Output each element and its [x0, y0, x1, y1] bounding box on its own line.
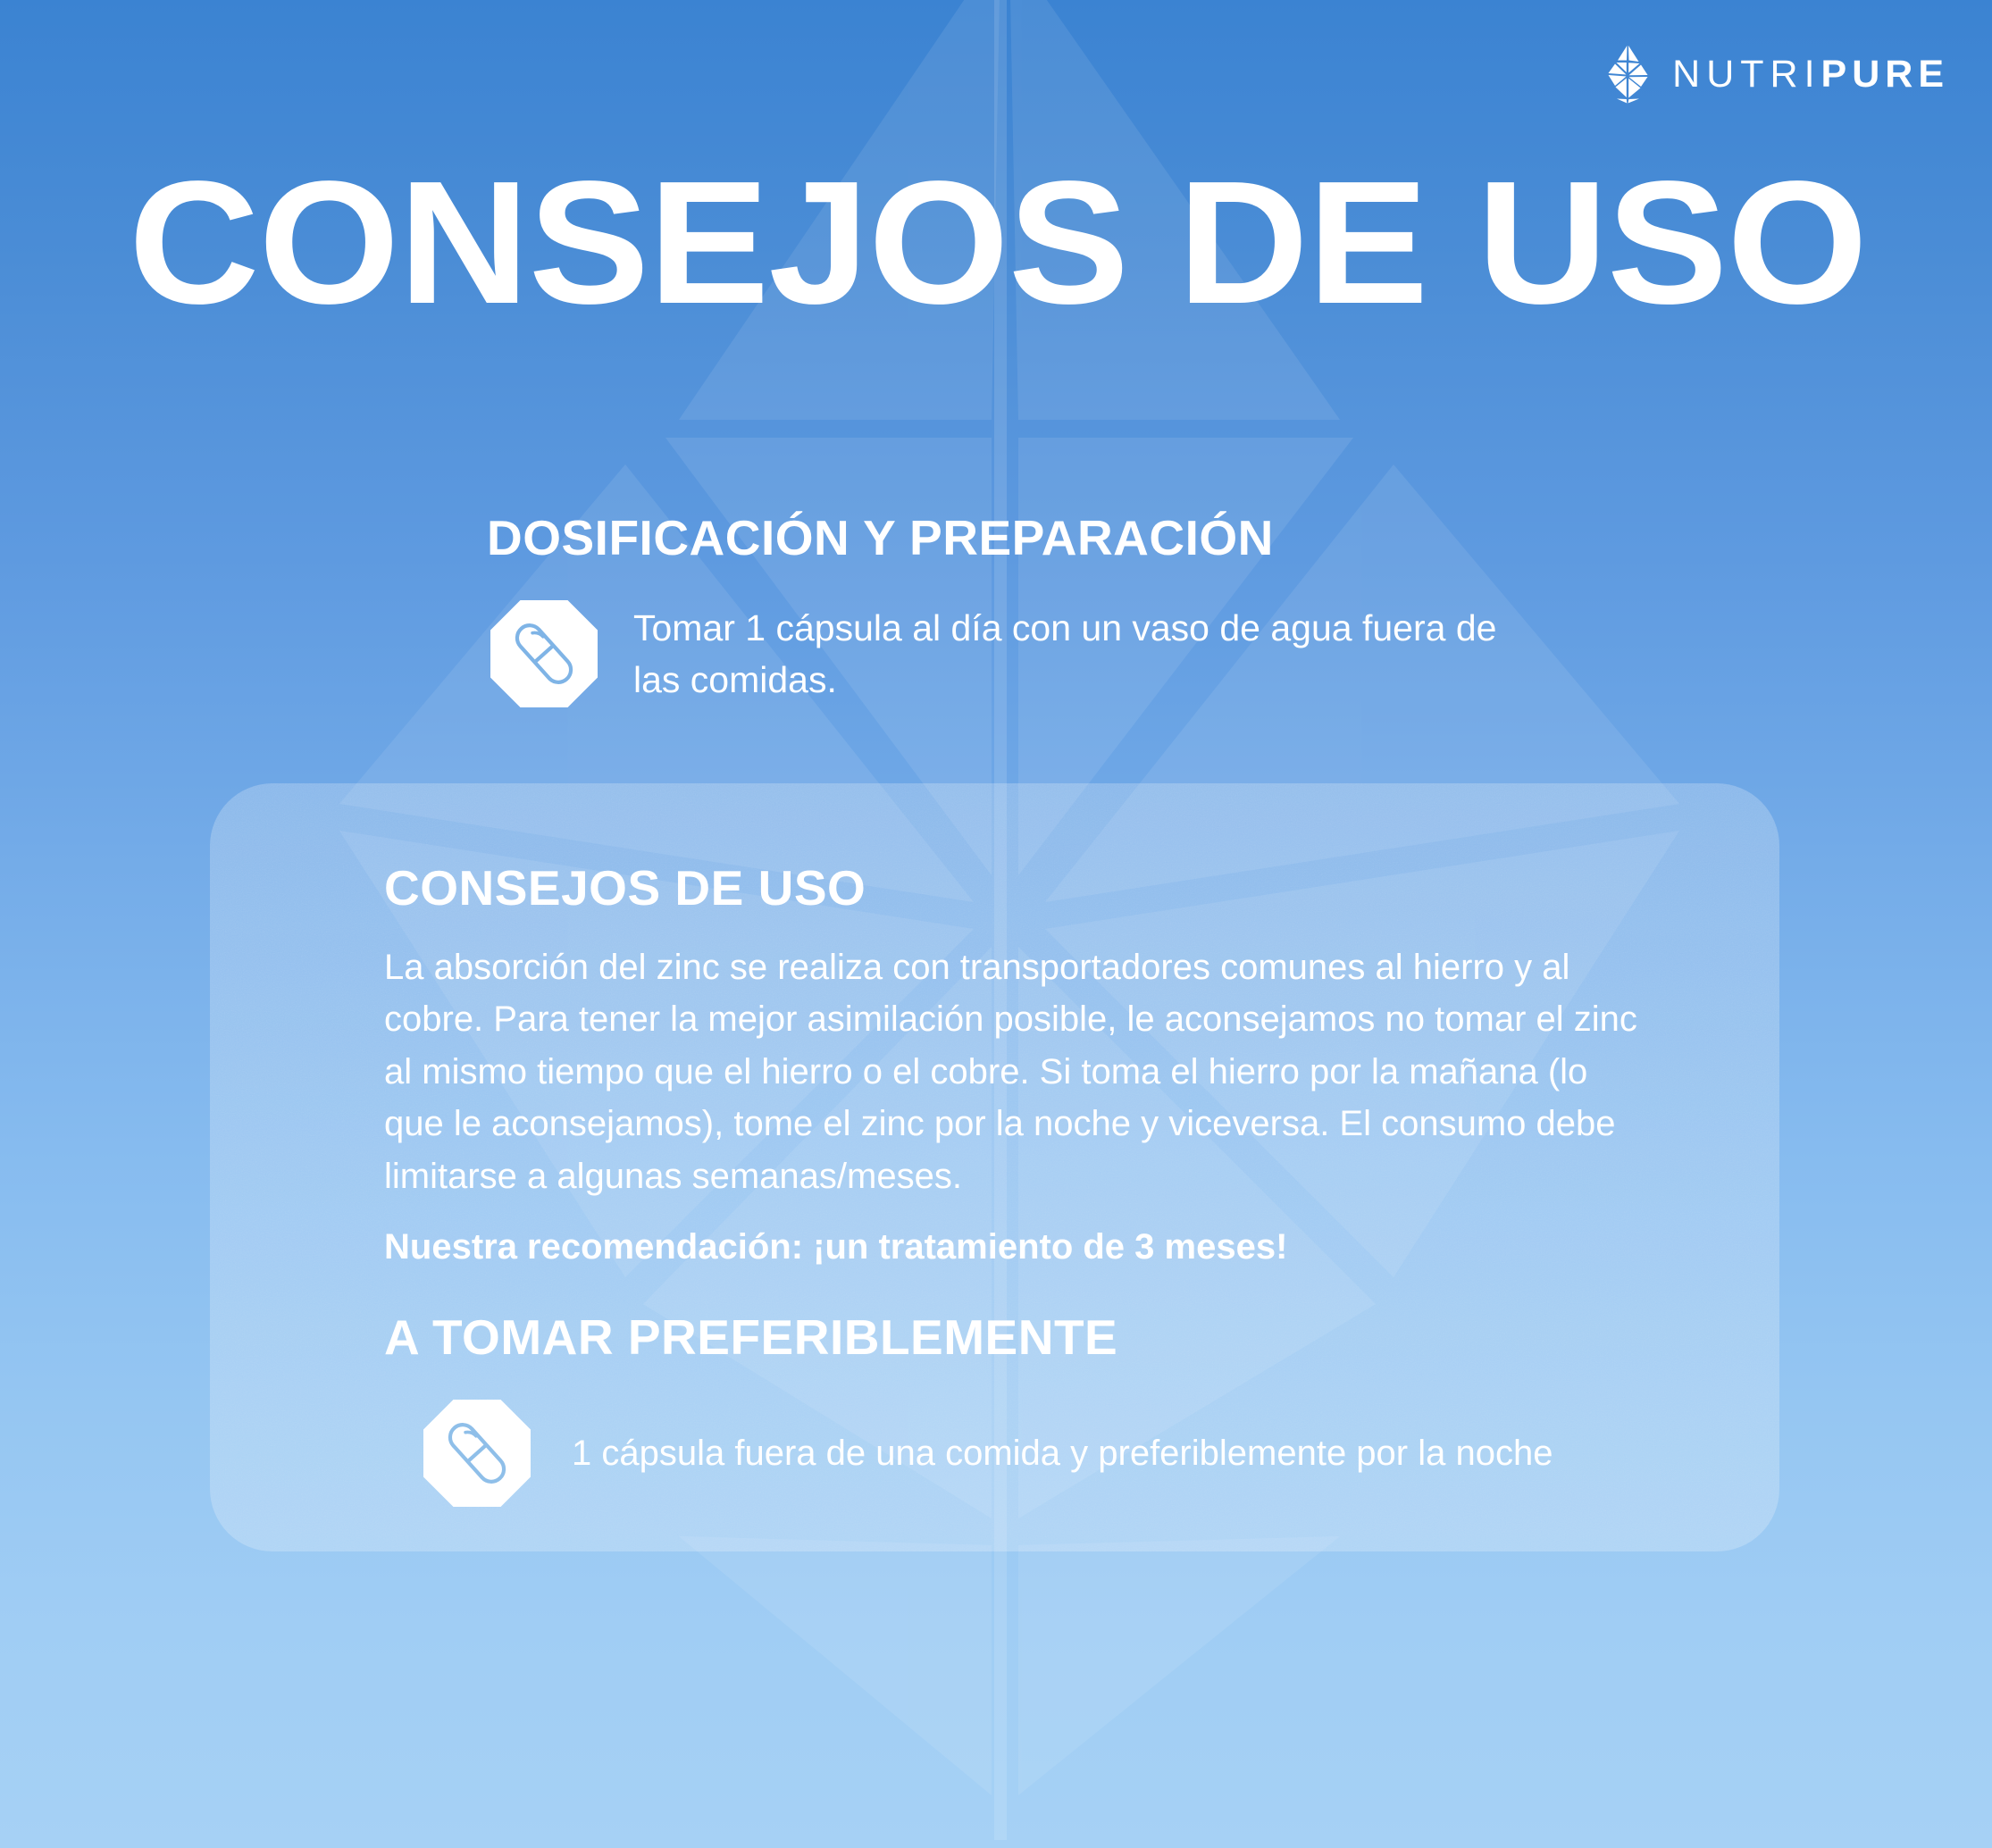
card-advice-row: 1 cápsula fuera de una comida y preferib… [420, 1396, 1726, 1510]
page-title: CONSEJOS DE USO [22, 159, 1973, 327]
leaf-icon [1603, 45, 1653, 104]
capsule-icon [487, 597, 601, 711]
dosage-section: DOSIFICACIÓN Y PREPARACIÓN Tomar 1 cápsu… [487, 509, 1541, 711]
brand-name: NUTRIPURE [1672, 55, 1949, 94]
brand-name-light: NUTRI [1672, 55, 1820, 94]
card-paragraph: La absorción del zinc se realiza con tra… [384, 941, 1653, 1202]
brand-name-bold: PURE [1821, 55, 1949, 94]
poster-root: NUTRIPURE CONSEJOS DE USO DOSIFICACIÓN Y… [0, 0, 1992, 1848]
dosage-text: Tomar 1 cápsula al día con un vaso de ag… [633, 597, 1541, 706]
card-content: CONSEJOS DE USO La absorción del zinc se… [210, 783, 1779, 1510]
card-recommendation: Nuestra recomendación: ¡un tratamiento d… [384, 1227, 1726, 1267]
brand-logo[interactable]: NUTRIPURE [1603, 43, 1949, 105]
dosage-row: Tomar 1 cápsula al día con un vaso de ag… [487, 597, 1541, 711]
card-heading-secondary: A TOMAR PREFERIBLEMENTE [384, 1309, 1726, 1366]
card-heading: CONSEJOS DE USO [384, 859, 1726, 916]
advice-card: CONSEJOS DE USO La absorción del zinc se… [210, 783, 1779, 1551]
card-advice-text: 1 cápsula fuera de una comida y preferib… [572, 1428, 1553, 1478]
capsule-icon [420, 1396, 534, 1510]
dosage-heading: DOSIFICACIÓN Y PREPARACIÓN [487, 509, 1541, 566]
